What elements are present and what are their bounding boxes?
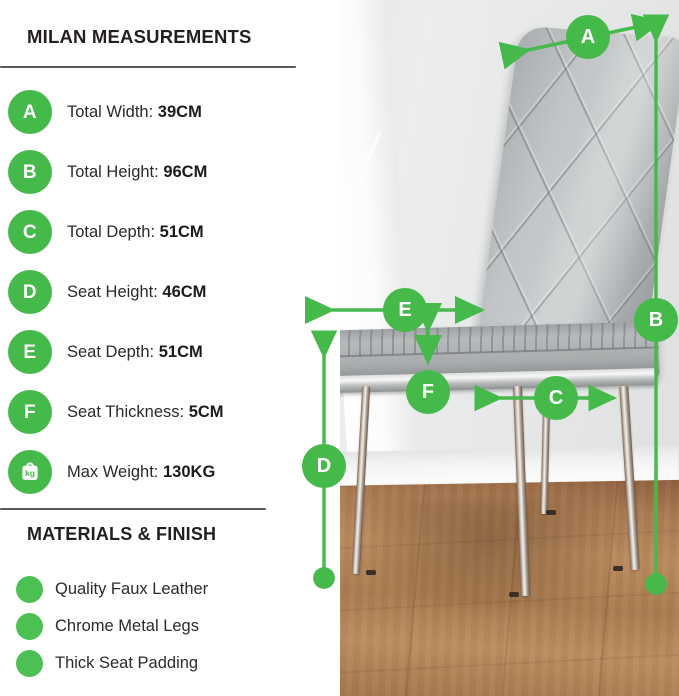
- measurement-label-e-text: Seat Depth:: [67, 343, 154, 361]
- measurement-row-max-weight: kg Max Weight: 130KG: [8, 450, 215, 494]
- measurement-label-max-weight: Max Weight: 130KG: [67, 463, 215, 482]
- chair-floor-shadow: [377, 500, 627, 620]
- material-item-1: Quality Faux Leather: [16, 574, 208, 604]
- measurement-label-b: Total Height: 96CM: [67, 163, 207, 182]
- measurement-value-d: 46CM: [162, 283, 206, 301]
- measurement-value-b: 96CM: [163, 163, 207, 181]
- heading-divider-middle: [0, 508, 266, 510]
- measurement-label-d-text: Seat Height:: [67, 283, 158, 301]
- kg-icon-text: kg: [25, 468, 35, 478]
- measurement-value-f: 5CM: [189, 403, 224, 421]
- chair-foot-back-right: [613, 566, 623, 571]
- weight-bag-glyph: kg: [17, 459, 43, 485]
- letter-badge-b-text: B: [23, 163, 37, 182]
- measurement-value-c: 51CM: [160, 223, 204, 241]
- letter-badge-b-icon: B: [8, 150, 52, 194]
- dimension-badge-f-label: F: [422, 382, 434, 402]
- measurement-row-f: F Seat Thickness: 5CM: [8, 390, 224, 434]
- materials-heading: MATERIALS & FINISH: [27, 524, 216, 545]
- measurement-row-e: E Seat Depth: 51CM: [8, 330, 203, 374]
- measurement-label-d: Seat Height: 46CM: [67, 283, 206, 302]
- dimension-badge-a-label: A: [581, 27, 595, 47]
- measurement-row-d: D Seat Height: 46CM: [8, 270, 206, 314]
- info-panel: MILAN MEASUREMENTS A Total Width: 39CM B…: [0, 0, 340, 696]
- letter-badge-c-text: C: [23, 223, 37, 242]
- measurement-row-b: B Total Height: 96CM: [8, 150, 207, 194]
- letter-badge-a-icon: A: [8, 90, 52, 134]
- measurement-label-f-text: Seat Thickness:: [67, 403, 184, 421]
- dimension-badge-f: F: [406, 370, 450, 414]
- material-item-3: Thick Seat Padding: [16, 648, 198, 678]
- chair-foot-front-left: [366, 570, 376, 575]
- material-item-2: Chrome Metal Legs: [16, 611, 199, 641]
- letter-badge-d-text: D: [23, 283, 37, 302]
- letter-badge-d-icon: D: [8, 270, 52, 314]
- measurement-label-f: Seat Thickness: 5CM: [67, 403, 224, 422]
- measurement-row-c: C Total Depth: 51CM: [8, 210, 204, 254]
- measurement-label-c-text: Total Depth:: [67, 223, 155, 241]
- dimension-badge-e: E: [383, 288, 427, 332]
- dimension-badge-d-label: D: [317, 456, 331, 476]
- measurements-heading: MILAN MEASUREMENTS: [27, 26, 252, 48]
- chair-foot-front-right: [509, 592, 519, 597]
- dimension-badge-e-label: E: [398, 300, 411, 320]
- measurement-label-e: Seat Depth: 51CM: [67, 343, 203, 362]
- material-label-1: Quality Faux Leather: [55, 580, 208, 599]
- letter-badge-c-icon: C: [8, 210, 52, 254]
- dimension-badge-b-label: B: [649, 310, 663, 330]
- letter-badge-e-icon: E: [8, 330, 52, 374]
- bullet-dot-icon: [16, 650, 43, 677]
- measurement-row-a: A Total Width: 39CM: [8, 90, 202, 134]
- heading-divider-top: [0, 66, 296, 68]
- dimension-badge-d: D: [302, 444, 346, 488]
- measurement-label-max-weight-text: Max Weight:: [67, 463, 158, 481]
- letter-badge-f-text: F: [24, 403, 36, 422]
- chair-foot-back-left: [546, 510, 556, 515]
- measurement-label-c: Total Depth: 51CM: [67, 223, 204, 242]
- measurement-value-a: 39CM: [158, 103, 202, 121]
- dimension-badge-c-label: C: [549, 388, 563, 408]
- material-label-2: Chrome Metal Legs: [55, 617, 199, 636]
- max-weight-kg-icon: kg: [8, 450, 52, 494]
- measurement-label-b-text: Total Height:: [67, 163, 159, 181]
- measurement-label-a-text: Total Width:: [67, 103, 153, 121]
- dimension-badge-b: B: [634, 298, 678, 342]
- measurement-label-a: Total Width: 39CM: [67, 103, 202, 122]
- letter-badge-e-text: E: [23, 343, 36, 362]
- letter-badge-a-text: A: [23, 103, 37, 122]
- measurement-value-max-weight: 130KG: [163, 463, 215, 481]
- bullet-dot-icon: [16, 613, 43, 640]
- measurement-infographic: A B C D E F MILAN MEASUREMENTS A Total W…: [0, 0, 679, 696]
- dimension-badge-c: C: [534, 376, 578, 420]
- material-label-3: Thick Seat Padding: [55, 654, 198, 673]
- measurement-value-e: 51CM: [159, 343, 203, 361]
- letter-badge-f-icon: F: [8, 390, 52, 434]
- bullet-dot-icon: [16, 576, 43, 603]
- chair-photo: [337, 0, 679, 696]
- dimension-badge-a: A: [566, 15, 610, 59]
